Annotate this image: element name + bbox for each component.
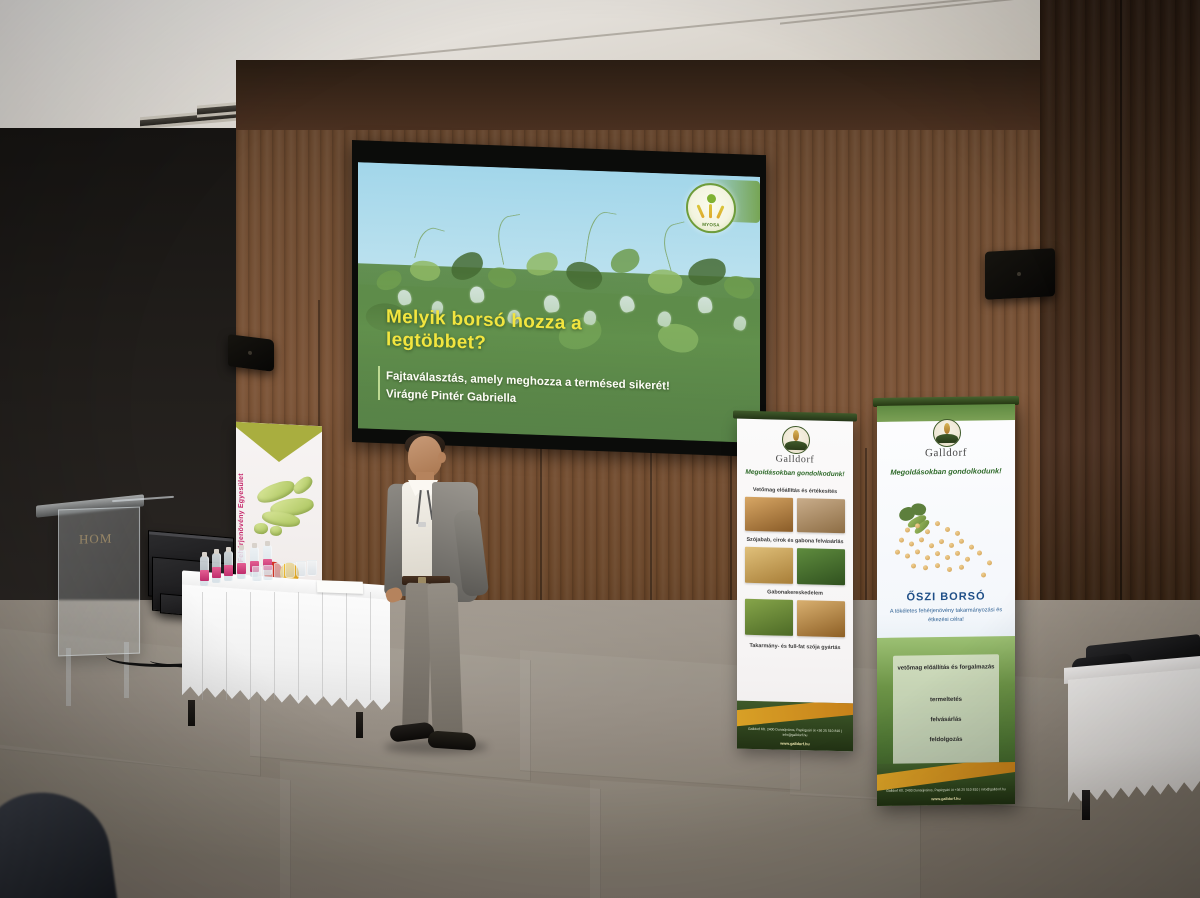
banner-photo-green-field <box>745 599 793 636</box>
pea-seed <box>915 523 920 528</box>
logo-leaf-icon <box>709 204 712 218</box>
galldorf-logo-icon <box>782 426 810 455</box>
logo-leaf-icon <box>716 205 724 219</box>
pea-seed <box>899 538 904 543</box>
slide-title: Melyik borsó hozza a legtöbbet? <box>386 305 636 361</box>
lectern-leg <box>66 648 71 706</box>
banner-footer-url[interactable]: www.galldorf.hu <box>737 741 853 748</box>
banner-footer-wave <box>737 701 853 727</box>
banner-section-label: Vetőmag előállítás és értékesítés <box>737 487 853 496</box>
pea-seed <box>935 521 940 526</box>
drinking-glass[interactable] <box>296 561 306 577</box>
banner-footer: Galldorf Kft. 2400 Dunaújváros, Papírgyá… <box>877 762 1015 806</box>
water-bottle[interactable] <box>212 553 221 583</box>
banner-footer: Galldorf Kft. 2400 Dunaújváros, Papírgyá… <box>737 701 853 752</box>
skirt-pleat <box>202 592 203 700</box>
pea-seed <box>895 550 900 555</box>
service-item: vetőmag előállítás és forgalmazás <box>893 664 999 673</box>
pea-seed <box>969 545 974 550</box>
skirt-pleat <box>346 592 347 700</box>
banner-claim: Megoldásokban gondolkodunk! <box>877 466 1015 477</box>
drinking-glass[interactable] <box>274 563 284 579</box>
pea-seed <box>945 555 950 560</box>
water-bottle[interactable] <box>224 551 233 581</box>
logo-label: MYOSA <box>688 221 734 228</box>
banner-footer-contact: Galldorf Kft. 2400 Dunaújváros, Papírgyá… <box>737 726 853 739</box>
pea-seed <box>915 549 920 554</box>
pea-seed <box>254 523 268 535</box>
banner-footer-contact: Galldorf Kft. 2400 Dunaújváros, Papírgyá… <box>877 787 1015 794</box>
banner-brand-name: Galldorf <box>877 446 1015 460</box>
galldorf-logo-icon <box>933 419 961 447</box>
presenter-person <box>380 436 510 756</box>
pea-seed <box>987 560 992 565</box>
pea-seed <box>923 565 928 570</box>
projection-screen: MYOSA Melyik borsó hozza a legtöbbet? Fa… <box>352 140 766 457</box>
wall-upper-shadow <box>236 60 1056 130</box>
pea-seed <box>905 554 910 559</box>
banner-oszi-borso: Galldorf Megoldásokban gondolkodunk! <box>877 404 1015 806</box>
paper-sheet[interactable] <box>317 580 363 594</box>
pea-seed <box>270 526 282 537</box>
name-badge <box>418 522 426 527</box>
wood-seam <box>1120 0 1122 670</box>
pea-seed <box>935 563 940 568</box>
banner-section-label: Szójabab, cirok és gabona felvásárlás <box>737 537 853 546</box>
pea-seed <box>925 529 930 534</box>
table-leg <box>356 712 363 738</box>
pea-pod <box>291 474 316 496</box>
pea-seed <box>935 551 940 556</box>
water-bottle[interactable] <box>200 556 209 586</box>
banner-section-label: Takarmány- és full-fat szója gyártás <box>737 643 853 652</box>
bottle-cap <box>252 543 257 548</box>
banner-claim: Megoldásokban gondolkodunk! <box>737 469 853 479</box>
bottle-label <box>212 567 221 578</box>
table-skirt <box>1068 668 1200 808</box>
product-subtitle: A tökéletes fehérjenövény takarmányozási… <box>877 606 1015 625</box>
water-bottle[interactable] <box>237 549 246 579</box>
table-skirt <box>182 584 390 717</box>
drinking-glass[interactable] <box>285 562 295 578</box>
pea-seed <box>911 563 916 568</box>
pea-seed <box>925 555 930 560</box>
wall-speaker-left <box>228 334 274 372</box>
banner-chevron-shape <box>236 422 322 465</box>
banner-photo-crop-rows <box>797 548 845 585</box>
logo-leaf-icon <box>696 204 704 218</box>
banner-photo-grain <box>745 547 793 584</box>
bottle-cap <box>226 547 231 552</box>
speaker-led-icon <box>248 351 252 355</box>
table-leg <box>188 700 195 726</box>
pea-seed <box>909 541 914 546</box>
banner-photo-harvest <box>745 497 793 532</box>
service-list-box: vetőmag előállítás és forgalmazás termel… <box>893 654 999 765</box>
banner-section-label: Gabonakereskedelem <box>737 589 853 598</box>
lectern-monogram: HOM <box>79 530 123 552</box>
pea-seed <box>919 537 924 542</box>
bottle-label <box>224 565 233 576</box>
banner-footer-url[interactable]: www.galldorf.hu <box>877 796 1015 802</box>
banner-top-shape <box>236 422 322 465</box>
pea-seed-pile <box>891 516 1001 580</box>
pea-seed <box>955 531 960 536</box>
trouser-right <box>427 583 462 736</box>
service-item: feldolgozás <box>893 736 999 745</box>
pea-seed <box>959 539 964 544</box>
wheat-icon <box>944 423 950 434</box>
service-item: felvásárlás <box>893 716 999 725</box>
banner-rail <box>733 410 857 421</box>
service-item: termeltetés <box>893 696 999 705</box>
lectern: HOM <box>58 507 140 657</box>
wall-speaker-right <box>985 248 1055 300</box>
banner-galldorf-services: Galldorf Megoldásokban gondolkodunk! Vet… <box>737 417 853 752</box>
banner-brand-name: Galldorf <box>737 453 853 467</box>
bottle-cap <box>239 545 244 550</box>
pea-seed <box>949 543 954 548</box>
pea-seed <box>981 572 986 577</box>
shoe-right <box>427 730 476 750</box>
pea-seed <box>905 528 910 533</box>
bottle-cap <box>265 541 270 546</box>
banner-photo-field <box>797 498 845 533</box>
conference-room-photo: MYOSA Melyik borsó hozza a legtöbbet? Fa… <box>0 0 1200 898</box>
bottle-label <box>237 563 246 574</box>
pea-seed <box>965 557 970 562</box>
projected-slide: MYOSA Melyik borsó hozza a legtöbbet? Fa… <box>358 162 760 443</box>
slide-accent-bar <box>378 366 380 400</box>
drinking-glass[interactable] <box>307 560 317 576</box>
skirt-pleat <box>226 592 227 700</box>
skirt-pleat <box>370 592 371 700</box>
field-furrow-icon <box>785 441 807 451</box>
pea-seed <box>939 539 944 544</box>
ear <box>438 452 446 463</box>
product-title: ŐSZI BORSÓ <box>877 590 1015 604</box>
drinking-glass[interactable] <box>252 566 262 582</box>
speaker-led-icon <box>1017 272 1021 276</box>
bottle-cap <box>202 552 207 557</box>
wheat-icon <box>793 430 799 441</box>
pea-seed <box>945 527 950 532</box>
presenter-table <box>182 578 390 718</box>
pea-seed <box>977 550 982 555</box>
bottle-label <box>200 570 209 581</box>
bottle-cap <box>214 549 219 554</box>
table-leg <box>1082 790 1090 820</box>
pea-seed <box>959 565 964 570</box>
pea-seed <box>929 543 934 548</box>
banner-photo-grain-pile <box>797 600 845 637</box>
drinking-glass[interactable] <box>263 565 273 581</box>
logo-seed-icon <box>707 194 716 203</box>
skirt-pleat <box>274 592 275 700</box>
skirt-pleat <box>250 592 251 700</box>
field-furrow-icon <box>936 434 958 443</box>
skirt-pleat <box>298 592 299 700</box>
organisation-logo-icon: MYOSA <box>686 182 736 234</box>
pea-seed <box>955 551 960 556</box>
pea-seed <box>947 567 952 572</box>
skirt-pleat <box>322 592 323 700</box>
banner-pea-image <box>252 467 318 542</box>
